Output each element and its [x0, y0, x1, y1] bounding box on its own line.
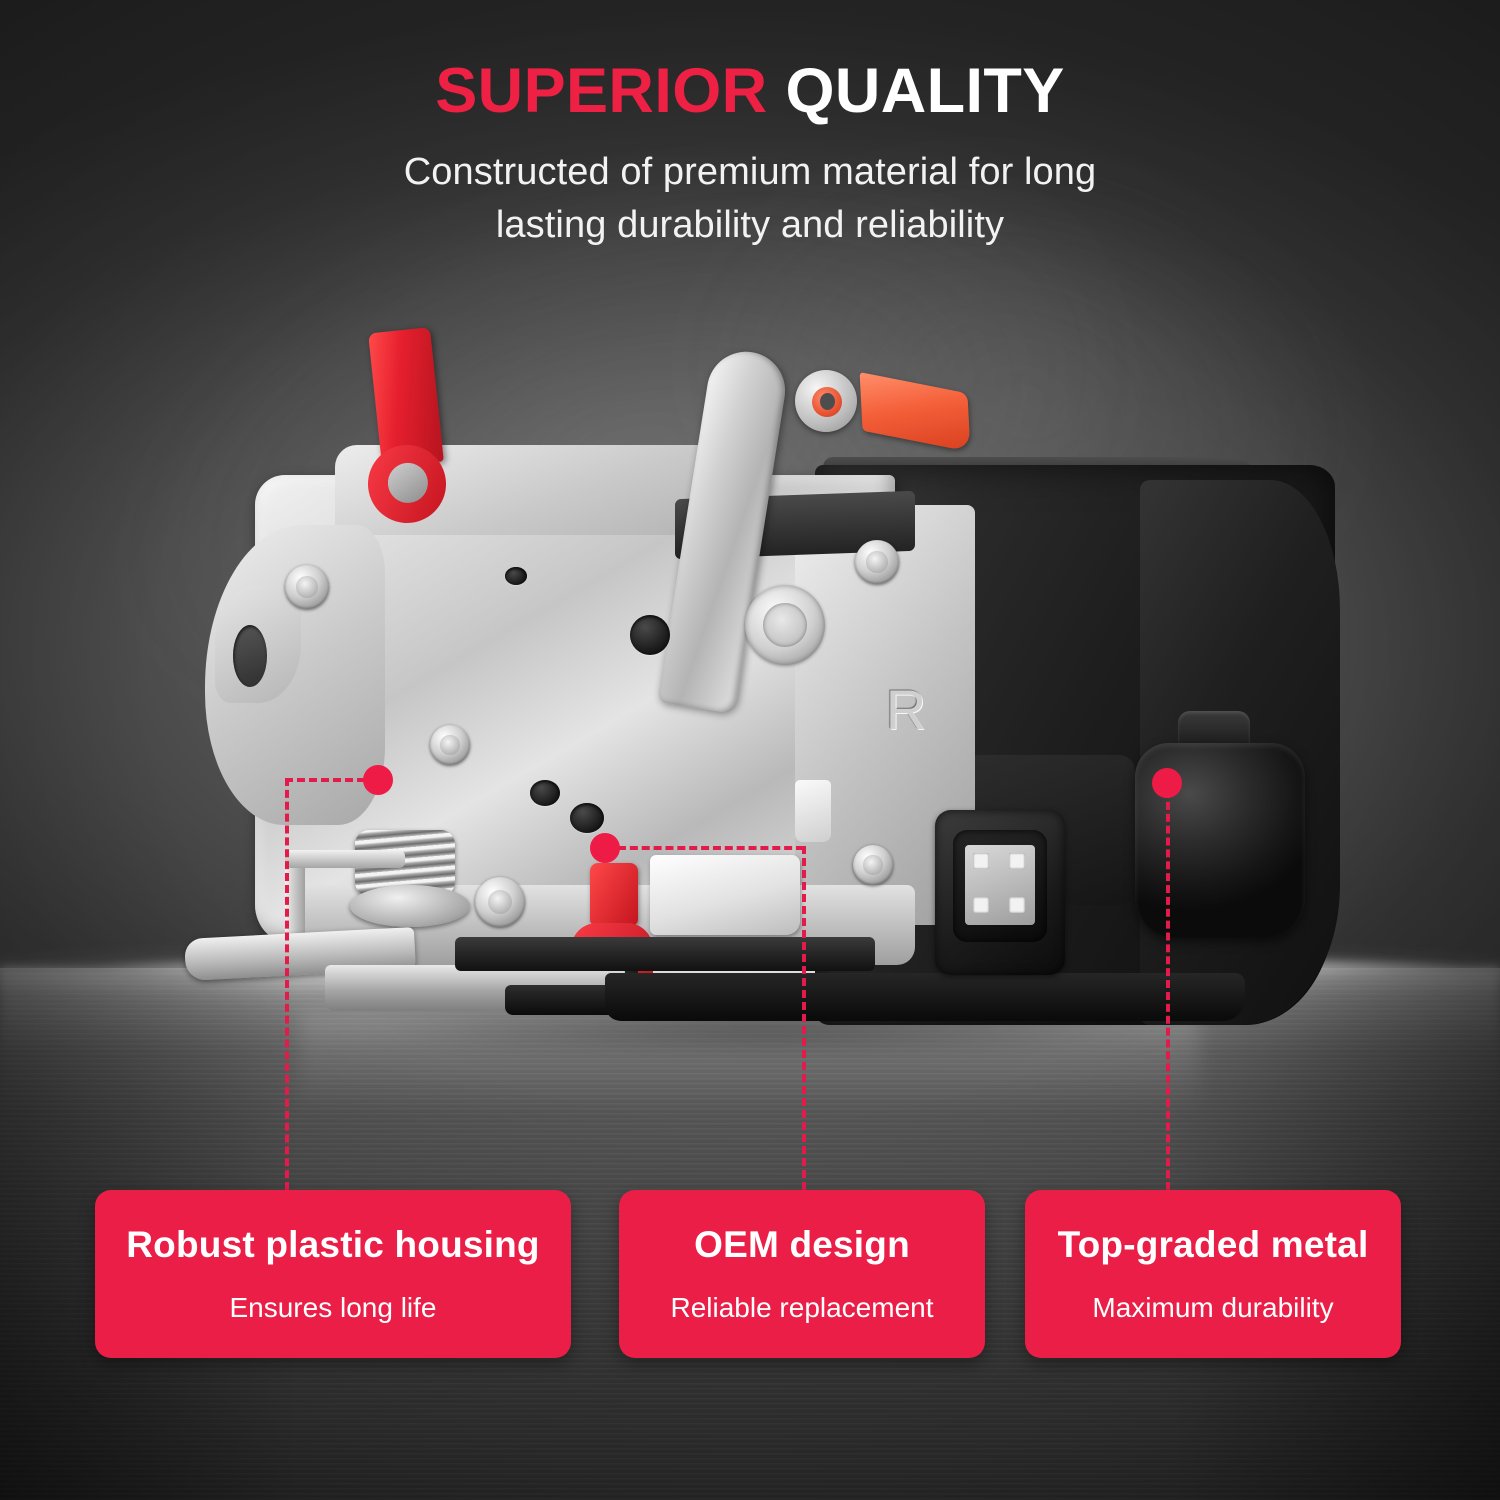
header-block: SUPERIOR QUALITY Constructed of premium …: [0, 58, 1500, 251]
metal-hole-small-a: [505, 567, 527, 585]
red-clip-lower: [590, 863, 638, 925]
white-plastic-tab: [795, 780, 831, 842]
leader-line-2-vertical: [802, 846, 806, 1190]
leader-dot-2: [590, 833, 620, 863]
actuator-rod-horizontal: [285, 850, 405, 868]
callout-3-title: Top-graded metal: [1058, 1224, 1369, 1266]
callout-top-graded-metal[interactable]: Top-graded metal Maximum durability: [1025, 1190, 1401, 1358]
subheadline: Constructed of premium material for long…: [0, 146, 1500, 251]
callout-3-subtitle: Maximum durability: [1092, 1292, 1333, 1324]
rivet-upper-left: [285, 565, 329, 609]
connector-pin-2: [1009, 853, 1025, 869]
orange-plastic-tab: [860, 372, 971, 452]
connector-pin-3: [973, 897, 989, 913]
callout-oem-design[interactable]: OEM design Reliable replacement: [619, 1190, 985, 1358]
headline-quality: QUALITY: [785, 56, 1064, 126]
white-plastic-lever: [650, 855, 800, 935]
callout-2-subtitle: Reliable replacement: [670, 1292, 933, 1324]
leader-line-3-vertical: [1166, 790, 1170, 1190]
product-marketing-image: SUPERIOR QUALITY Constructed of premium …: [0, 0, 1500, 1500]
leader-line-2-horizontal: [618, 846, 804, 850]
mounting-ear-hole: [233, 625, 267, 687]
leader-line-1-vertical: [285, 778, 289, 1190]
callout-1-title: Robust plastic housing: [126, 1224, 539, 1266]
connector-pin-4: [1009, 897, 1025, 913]
black-base-plate: [605, 973, 1245, 1021]
rivet-lower-right: [853, 845, 893, 885]
connector-pin-block: [965, 845, 1035, 925]
rivet-lower-mid: [475, 877, 525, 927]
leader-line-1-horizontal: [285, 778, 365, 782]
side-marking-letter: R: [880, 680, 932, 740]
rivet-mid-left: [430, 725, 470, 765]
callout-robust-plastic-housing[interactable]: Robust plastic housing Ensures long life: [95, 1190, 571, 1358]
subheadline-line-1: Constructed of premium material for long: [0, 146, 1500, 198]
callout-1-subtitle: Ensures long life: [229, 1292, 436, 1324]
page-title: SUPERIOR QUALITY: [0, 58, 1500, 124]
feature-callouts: Robust plastic housing Ensures long life…: [0, 1190, 1500, 1360]
round-emboss: [745, 585, 825, 665]
spring-washer: [350, 885, 470, 927]
metal-hole-small-b: [530, 780, 560, 806]
door-lock-actuator-photo: R: [175, 325, 1375, 1035]
headline-superior: SUPERIOR: [435, 56, 767, 126]
rivet-upper-right: [855, 540, 899, 584]
subheadline-line-2: lasting durability and reliability: [0, 199, 1500, 251]
lever-bushing: [812, 387, 842, 417]
dark-crossbar-upper: [455, 937, 875, 971]
metal-hole-small-c: [570, 803, 604, 833]
callout-2-title: OEM design: [694, 1224, 910, 1266]
connector-pin-1: [973, 853, 989, 869]
leader-dot-3: [1152, 768, 1182, 798]
metal-hole-center: [630, 615, 670, 655]
leader-dot-1: [363, 765, 393, 795]
